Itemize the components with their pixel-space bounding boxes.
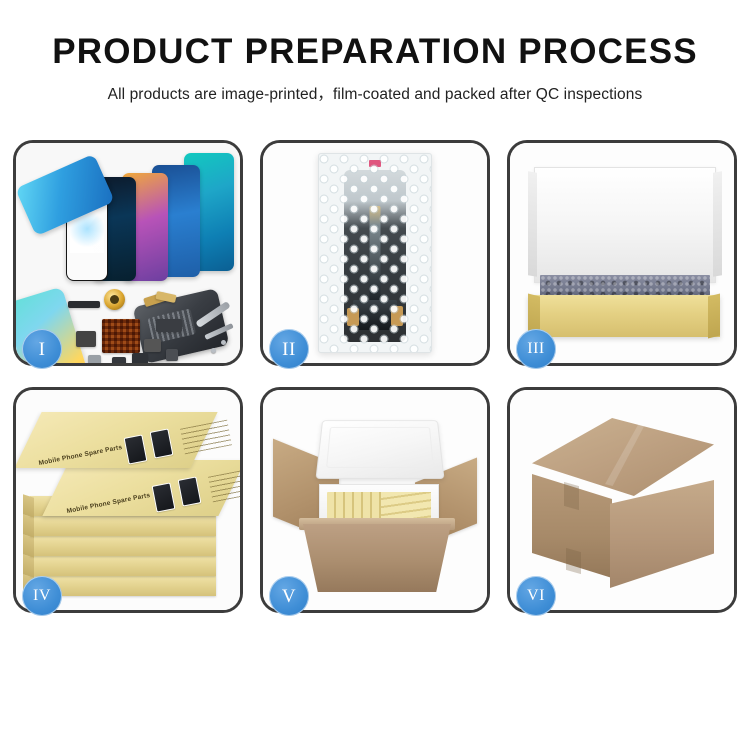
kraft-box-tray (528, 295, 720, 337)
chip-part-a (156, 319, 182, 332)
process-step-panel-1[interactable]: I (13, 140, 243, 366)
kraft-box-layer-3 (30, 536, 216, 556)
step-badge-1: I (22, 329, 62, 369)
page-subtitle: All products are image-printed，film-coat… (0, 82, 750, 104)
kraft-box-stack: Mobile Phone Spare Parts Mobile Phone Sp… (24, 408, 238, 598)
chip-part-e (166, 349, 178, 361)
speaker-coil-part (104, 289, 125, 310)
step-badge-5: V (269, 576, 309, 616)
screw-part-a (221, 340, 226, 345)
chip-part-d (112, 357, 126, 363)
chip-part-c (144, 339, 161, 352)
copper-grid-part (102, 319, 140, 353)
sim-tray-part (88, 355, 101, 363)
step-numeral-4: IV (33, 588, 51, 604)
page-header: PRODUCT PREPARATION PROCESS All products… (0, 0, 750, 104)
step-badge-6: VI (516, 576, 556, 616)
step-numeral-1: I (39, 340, 46, 359)
screw-part-b (211, 348, 216, 353)
process-step-panel-4[interactable]: Mobile Phone Spare Parts Mobile Phone Sp… (13, 387, 243, 613)
bubble-texture (319, 154, 431, 352)
step-numeral-2: II (282, 340, 296, 359)
foam-box-lid (316, 420, 445, 479)
process-step-panel-5[interactable]: V (260, 387, 490, 613)
process-step-grid: I II (13, 140, 737, 613)
page-title: PRODUCT PREPARATION PROCESS (0, 34, 750, 69)
white-foam-lid (534, 167, 716, 283)
camera-module-part (132, 353, 148, 363)
kraft-box-layer-4 (30, 556, 216, 576)
flex-cable-part (68, 301, 100, 308)
carton-tape-lower (566, 548, 581, 574)
carton-tape-upper (564, 482, 579, 510)
step-numeral-5: V (282, 587, 296, 606)
process-step-panel-3[interactable]: III (507, 140, 737, 366)
process-step-panel-2[interactable]: II (260, 140, 490, 366)
process-step-panel-6[interactable]: VI (507, 387, 737, 613)
carton-body (303, 524, 451, 592)
bubble-wrap-bag (318, 153, 432, 353)
chip-part-b (76, 331, 96, 347)
step-numeral-3: III (527, 341, 544, 357)
step-badge-3: III (516, 329, 556, 369)
step-badge-2: II (269, 329, 309, 369)
kraft-box-layer-2 (30, 516, 216, 536)
step-badge-4: IV (22, 576, 62, 616)
carton-right-face (610, 480, 714, 588)
step-numeral-6: VI (527, 588, 545, 604)
